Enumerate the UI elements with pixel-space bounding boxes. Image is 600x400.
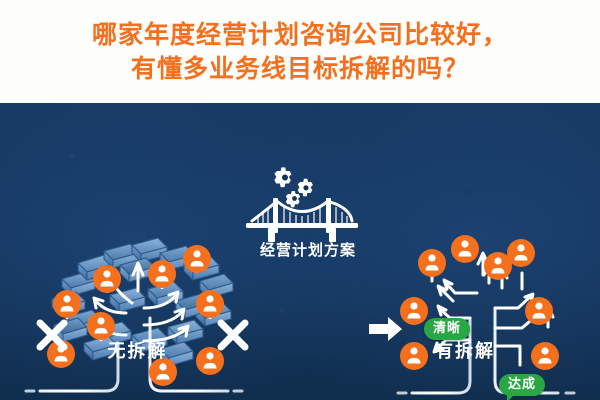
right-panel-caption: 有拆解 <box>330 337 600 363</box>
bridge-icon <box>246 198 358 242</box>
gear-icon <box>286 191 300 207</box>
illustration-stage: 经营计划方案 清晰 达成 无拆解 有拆解 <box>0 103 600 400</box>
person-node <box>451 235 479 263</box>
gear-icon <box>298 179 313 196</box>
scene: 经营计划方案 清晰 达成 无拆解 有拆解 <box>0 103 600 400</box>
poster-canvas: 哪家年度经营计划咨询公司比较好， 有懂多业务线目标拆解的吗？ <box>0 0 600 400</box>
person-node <box>525 297 553 325</box>
bridge-label: 经营计划方案 <box>228 239 388 260</box>
bridge-with-gears-icon <box>246 167 358 242</box>
gear-icon <box>274 167 291 187</box>
left-panel-caption: 无拆解 <box>0 337 275 363</box>
person-node <box>507 239 535 267</box>
page-title-line-2: 有懂多业务线目标拆解的吗？ <box>131 52 469 86</box>
person-node <box>400 297 428 325</box>
person-node <box>418 249 446 277</box>
badge-done: 达成 <box>499 374 545 396</box>
header-banner: 哪家年度经营计划咨询公司比较好， 有懂多业务线目标拆解的吗？ <box>0 0 600 103</box>
person-node <box>93 265 121 293</box>
page-title-line-1: 哪家年度经营计划咨询公司比较好， <box>92 18 508 52</box>
person-node <box>183 245 211 273</box>
